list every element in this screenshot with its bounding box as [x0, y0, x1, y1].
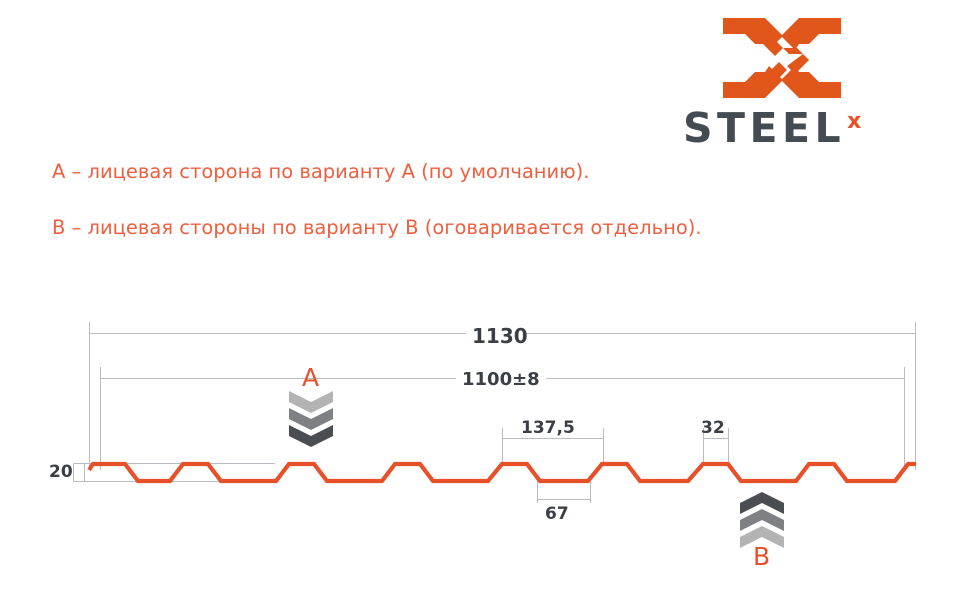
profile-technical-drawing [0, 0, 970, 597]
variant-a-down-chevrons-icon [289, 391, 333, 447]
dimension-label-crest-width: 32 [701, 418, 725, 438]
variant-b-up-chevrons-icon [740, 492, 784, 548]
variant-b-label: В [753, 542, 770, 571]
dimension-label-working-width: 1100±8 [462, 369, 540, 390]
dimension-label-overall-width: 1130 [472, 324, 528, 348]
trapezoidal-profile-line [89, 464, 916, 481]
dimension-label-pitch: 137,5 [521, 418, 575, 438]
dimension-label-profile-height: 20 [49, 462, 73, 482]
variant-a-label: А [302, 363, 319, 392]
dimension-label-valley-width: 67 [545, 504, 569, 524]
